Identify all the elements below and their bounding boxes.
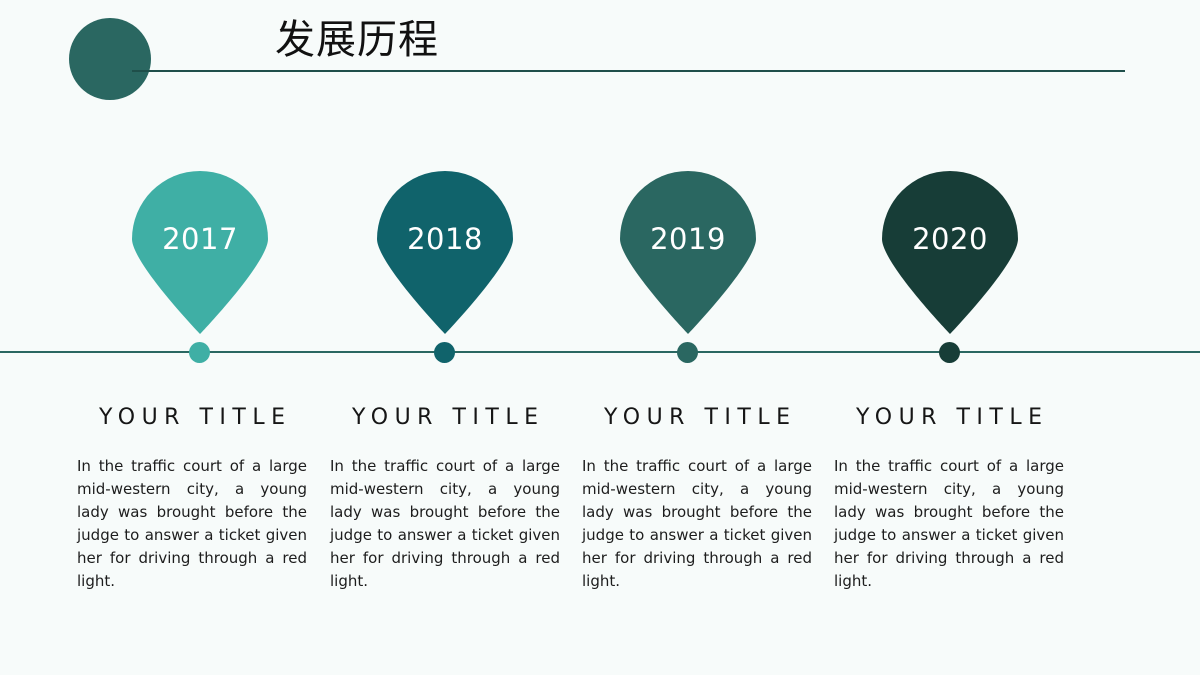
milestone-title: YOUR TITLE [330, 403, 560, 433]
milestone-description: In the traffic court of a large mid-west… [77, 455, 307, 593]
timeline-marker-2019[interactable]: 2019 [620, 171, 756, 371]
milestone-description: In the traffic court of a large mid-west… [330, 455, 560, 593]
milestone-title: YOUR TITLE [582, 403, 812, 433]
timeline-marker-2017[interactable]: 2017 [132, 171, 268, 371]
milestone-title: YOUR TITLE [77, 403, 307, 433]
milestone-description: In the traffic court of a large mid-west… [834, 455, 1064, 593]
timeline-node-dot [939, 342, 960, 363]
timeline-marker-2020[interactable]: 2020 [882, 171, 1018, 371]
milestone-description: In the traffic court of a large mid-west… [582, 455, 812, 593]
timeline-marker-2018[interactable]: 2018 [377, 171, 513, 371]
timeline-node-dot [189, 342, 210, 363]
milestone-year-label: 2019 [620, 223, 756, 255]
milestone-column-2020: YOUR TITLE In the traffic court of a lar… [834, 403, 1064, 593]
timeline-node-dot [677, 342, 698, 363]
milestone-year-label: 2020 [882, 223, 1018, 255]
milestone-year-label: 2017 [132, 223, 268, 255]
milestone-column-2019: YOUR TITLE In the traffic court of a lar… [582, 403, 812, 593]
milestone-column-2017: YOUR TITLE In the traffic court of a lar… [77, 403, 307, 593]
timeline-node-dot [434, 342, 455, 363]
milestone-column-2018: YOUR TITLE In the traffic court of a lar… [330, 403, 560, 593]
milestone-year-label: 2018 [377, 223, 513, 255]
milestone-title: YOUR TITLE [834, 403, 1064, 433]
